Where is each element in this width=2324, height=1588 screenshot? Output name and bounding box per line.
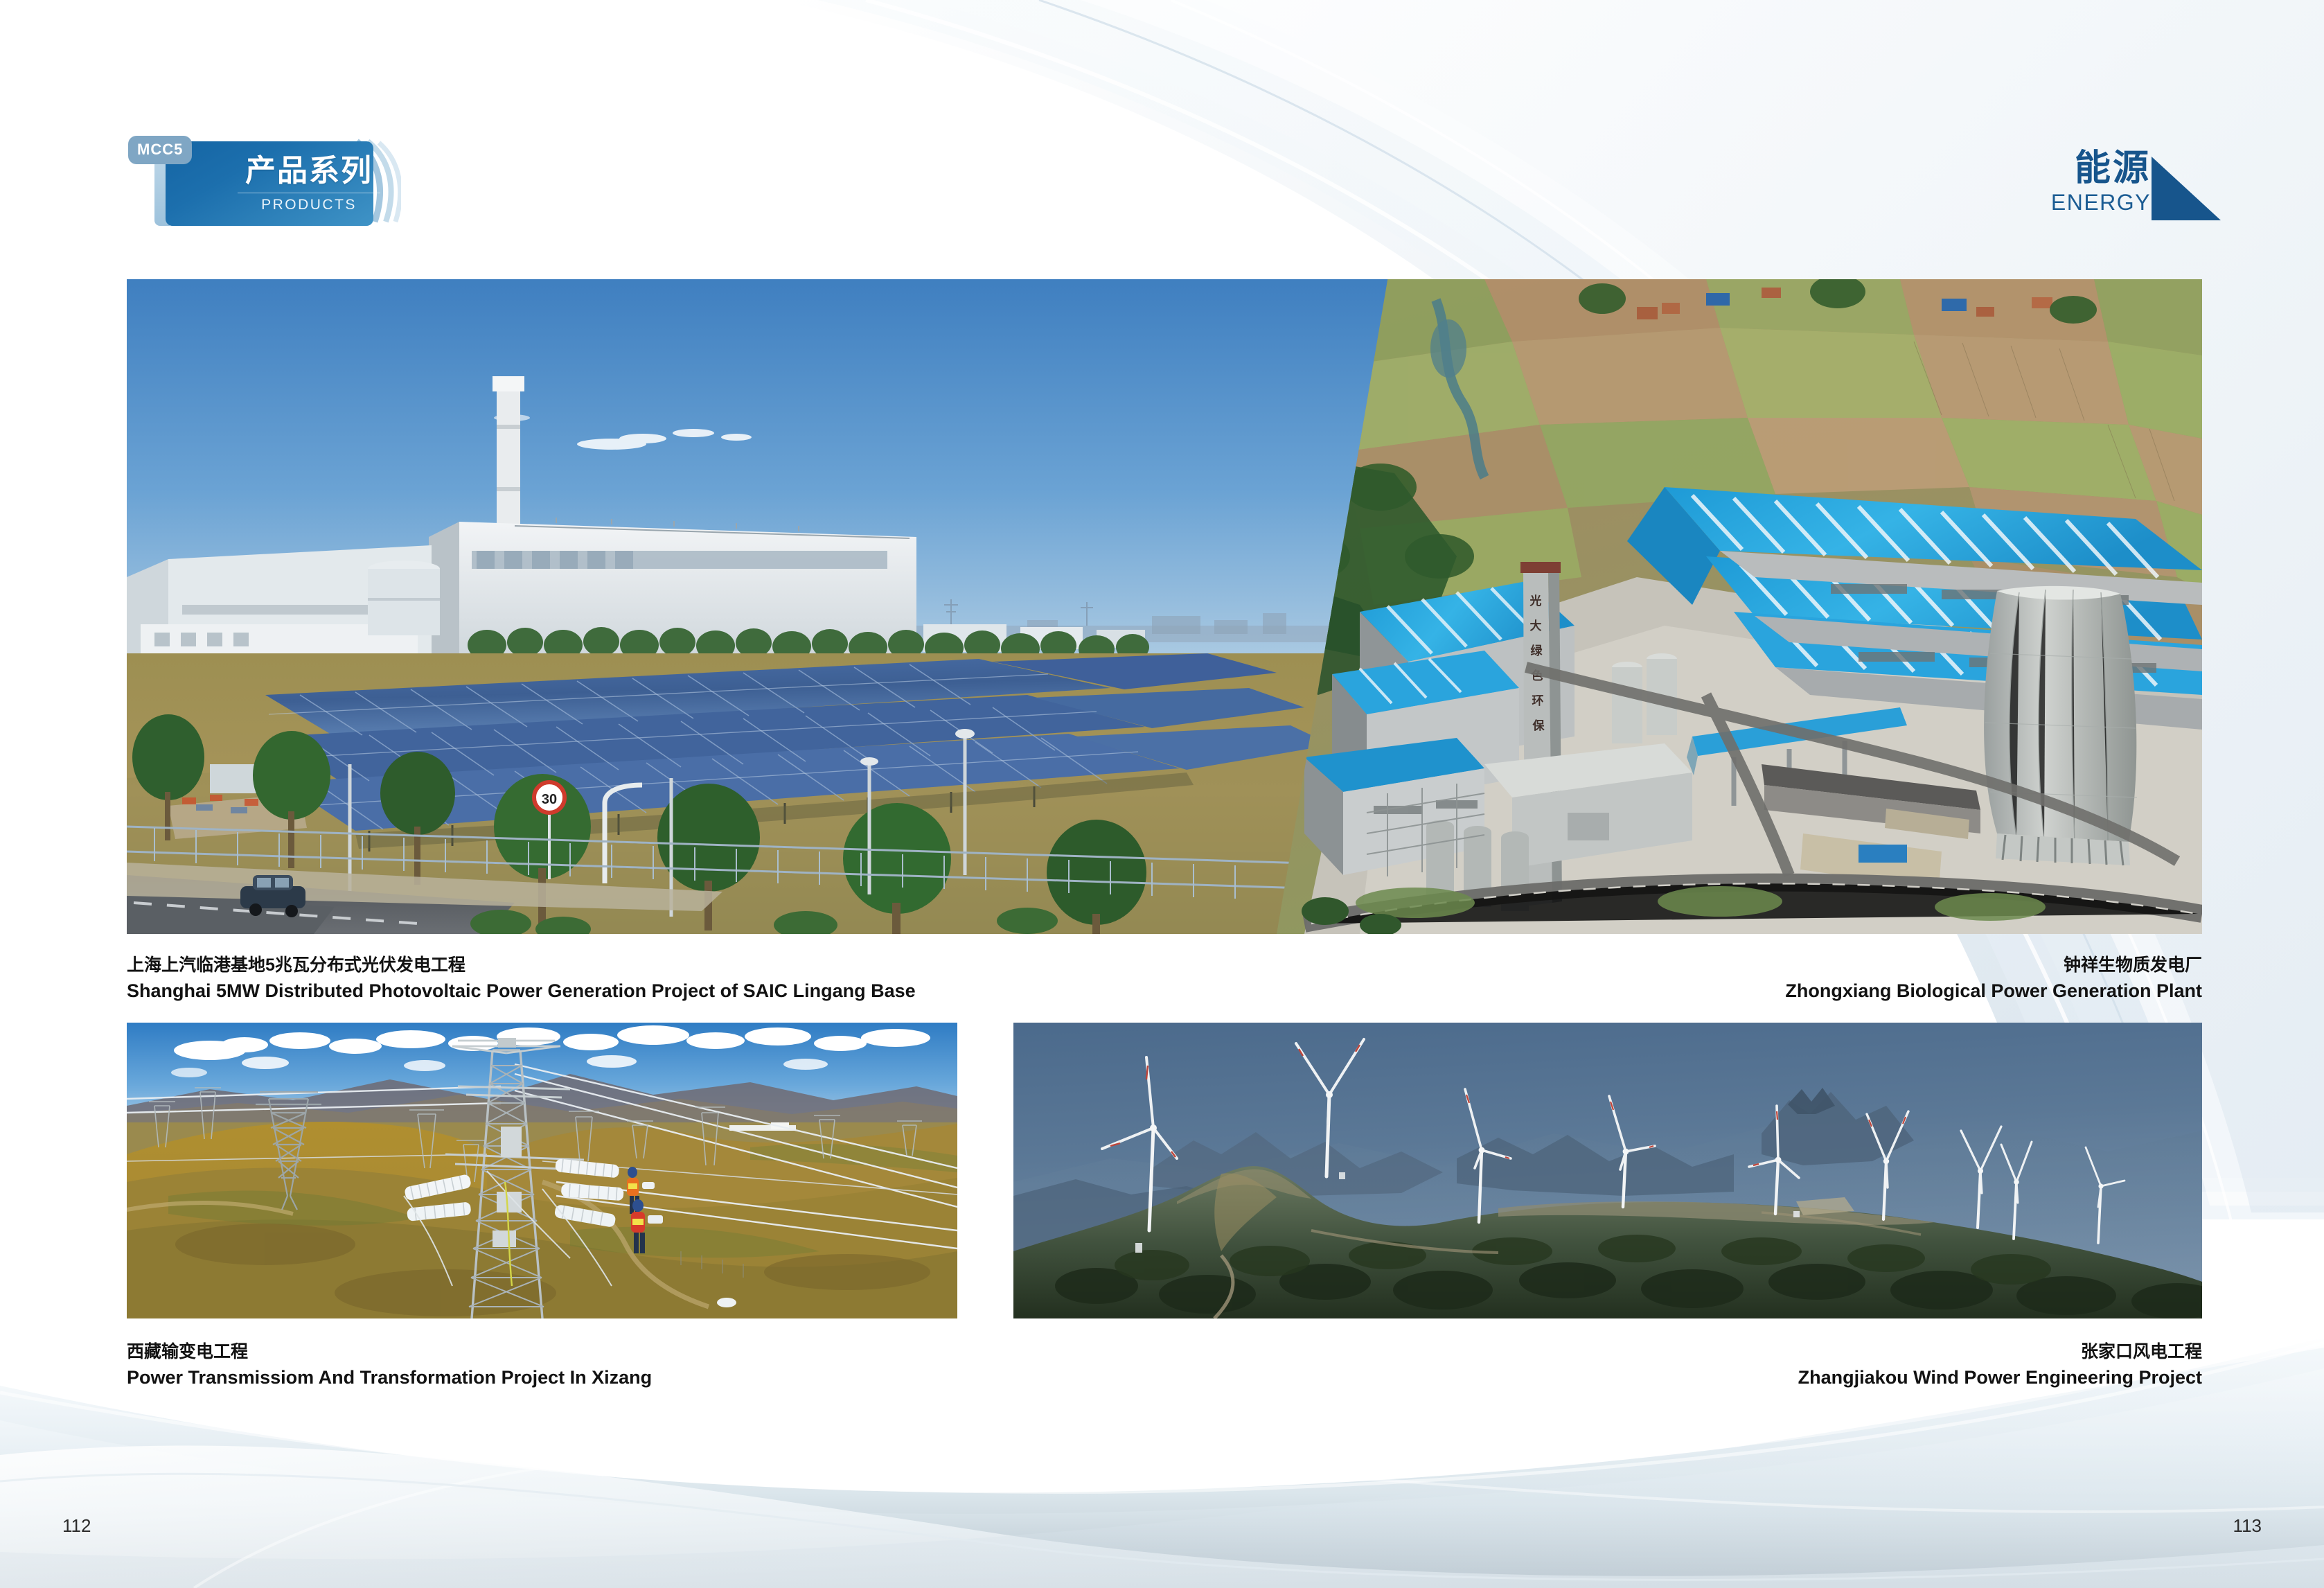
stack-char-6: 保 [1532,718,1545,732]
photo-biomass-power-plant: 光 大 绿 色 环 保 [1277,279,2202,934]
caption-cn: 张家口风电工程 [1798,1340,2202,1364]
svg-text:30: 30 [542,792,557,807]
stack-char-3: 绿 [1531,644,1543,658]
page-number-right: 113 [2233,1515,2262,1537]
stack-char-2: 大 [1530,619,1542,633]
caption-en: Power Transmissiom And Transformation Pr… [127,1364,652,1391]
caption-en: Zhangjiakou Wind Power Engineering Proje… [1798,1364,2202,1391]
triangle-marker-icon [2149,154,2225,223]
page-number-left: 112 [62,1515,91,1537]
products-title-cn: 产品系列 [229,154,389,188]
badge-plate: 产品系列 PRODUCTS [166,141,373,226]
products-title-en: PRODUCTS [229,197,389,213]
caption-en: Shanghai 5MW Distributed Photovoltaic Po… [127,977,916,1005]
caption-cn: 钟祥生物质发电厂 [1785,953,2202,977]
stack-char-1: 光 [1529,594,1542,608]
caption-solar-pv: 上海上汽临港基地5兆瓦分布式光伏发电工程 Shanghai 5MW Distri… [127,953,916,1005]
caption-transmission: 西藏输变电工程 Power Transmissiom And Transform… [127,1340,652,1391]
photo-solar-pv-project: 30 [127,279,1415,934]
photo-wind-power-project [1013,1023,2202,1318]
caption-biomass: 钟祥生物质发电厂 Zhongxiang Biological Power Gen… [1785,953,2202,1005]
section-heading-energy: 能源 ENERGY [2005,139,2324,236]
caption-cn: 上海上汽临港基地5兆瓦分布式光伏发电工程 [127,953,916,977]
photo-power-transmission-project [127,1023,957,1318]
page-header: 产品系列 PRODUCTS MCC5 能源 ENERGY [0,0,2324,263]
stack-char-5: 环 [1532,694,1544,707]
caption-cn: 西藏输变电工程 [127,1340,652,1364]
caption-en: Zhongxiang Biological Power Generation P… [1785,977,2202,1005]
company-code-tag: MCC5 [128,136,192,164]
caption-wind: 张家口风电工程 Zhangjiakou Wind Power Engineeri… [1798,1340,2202,1391]
section-title-en: ENERGY [2051,190,2151,215]
badge-divider [238,193,380,193]
section-title-cn: 能源 [2075,139,2151,191]
products-badge: 产品系列 PRODUCTS MCC5 [127,136,400,226]
